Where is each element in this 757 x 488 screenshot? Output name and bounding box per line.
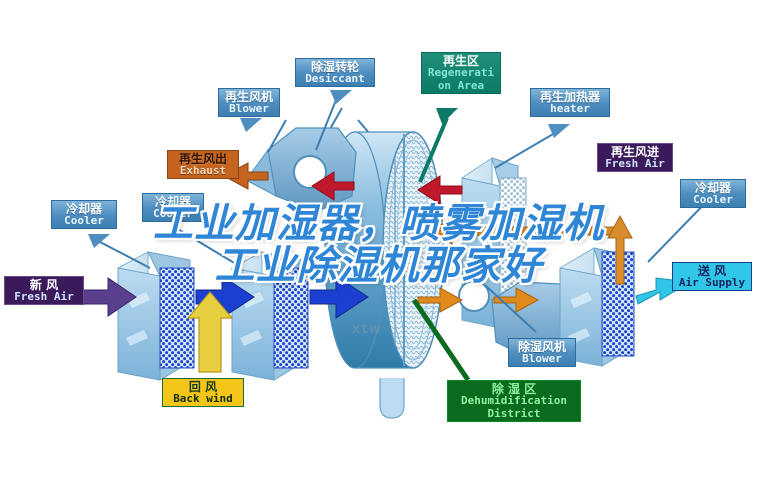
label-dehum-blower[interactable]: 除湿风机 Blower	[508, 338, 576, 367]
label-dehum-district-cn: 除 湿 区	[448, 381, 580, 395]
label-cooler-mid[interactable]: 冷却器 Cooler	[142, 193, 204, 222]
label-dehum-district[interactable]: 除 湿 区 Dehumidification District	[447, 380, 581, 422]
label-regeneration-area[interactable]: 再生区 Regenerati on Area	[421, 52, 501, 94]
label-cooler-right[interactable]: 冷却器 Cooler	[680, 179, 746, 208]
label-dehum-blower-cn: 除湿风机	[509, 339, 575, 353]
label-exhaust-en: Exhaust	[168, 165, 238, 178]
label-dehum-blower-en: Blower	[509, 353, 575, 366]
label-cooler-left-en: Cooler	[52, 215, 116, 228]
label-air-supply[interactable]: 送 风 Air Supply	[672, 262, 752, 291]
diagram-canvas: xtw 除湿转轮 Desiccant 再生风机 Blower 再生区 Regen…	[0, 0, 757, 488]
regen-fan	[246, 128, 356, 212]
label-exhaust[interactable]: 再生风出 Exhaust	[167, 150, 239, 179]
label-exhaust-cn: 再生风出	[168, 151, 238, 165]
label-dehum-district-en-2: District	[448, 408, 580, 421]
label-air-supply-cn: 送 风	[673, 263, 751, 277]
cooler-coil-2	[232, 252, 308, 380]
label-regeneration-en-2: on Area	[422, 80, 500, 93]
label-fresh-air-in-cn: 新 风	[5, 277, 83, 291]
label-cooler-right-cn: 冷却器	[681, 180, 745, 194]
label-desiccant[interactable]: 除湿转轮 Desiccant	[295, 58, 375, 87]
label-back-wind[interactable]: 回 风 Back wind	[162, 378, 244, 407]
label-fresh-air-regen-en: Fresh Air	[598, 158, 672, 171]
label-air-supply-en: Air Supply	[673, 277, 751, 290]
label-regen-blower-en: Blower	[219, 103, 279, 116]
label-cooler-right-en: Cooler	[681, 194, 745, 207]
label-fresh-air-in-en: Fresh Air	[5, 291, 83, 304]
label-cooler-mid-cn: 冷却器	[143, 194, 203, 208]
label-back-wind-cn: 回 风	[163, 379, 243, 393]
label-regeneration-cn: 再生区	[422, 53, 500, 67]
label-back-wind-en: Back wind	[163, 393, 243, 406]
site-watermark-small: xtw	[352, 322, 382, 337]
label-desiccant-en: Desiccant	[296, 73, 374, 86]
label-regen-heater-cn: 再生加热器	[531, 89, 609, 103]
label-regen-blower[interactable]: 再生风机 Blower	[218, 88, 280, 117]
label-regen-blower-cn: 再生风机	[219, 89, 279, 103]
label-cooler-left[interactable]: 冷却器 Cooler	[51, 200, 117, 229]
label-cooler-mid-en: Cooler	[143, 208, 203, 221]
label-regen-heater-en: heater	[531, 103, 609, 116]
cooler-coil-1	[118, 252, 194, 380]
label-fresh-air-regen[interactable]: 再生风进 Fresh Air	[597, 143, 673, 172]
label-regen-heater[interactable]: 再生加热器 heater	[530, 88, 610, 117]
label-desiccant-cn: 除湿转轮	[296, 59, 374, 73]
label-fresh-air-in[interactable]: 新 风 Fresh Air	[4, 276, 84, 305]
label-fresh-air-regen-cn: 再生风进	[598, 144, 672, 158]
label-cooler-left-cn: 冷却器	[52, 201, 116, 215]
schematic-graphics	[0, 0, 757, 488]
